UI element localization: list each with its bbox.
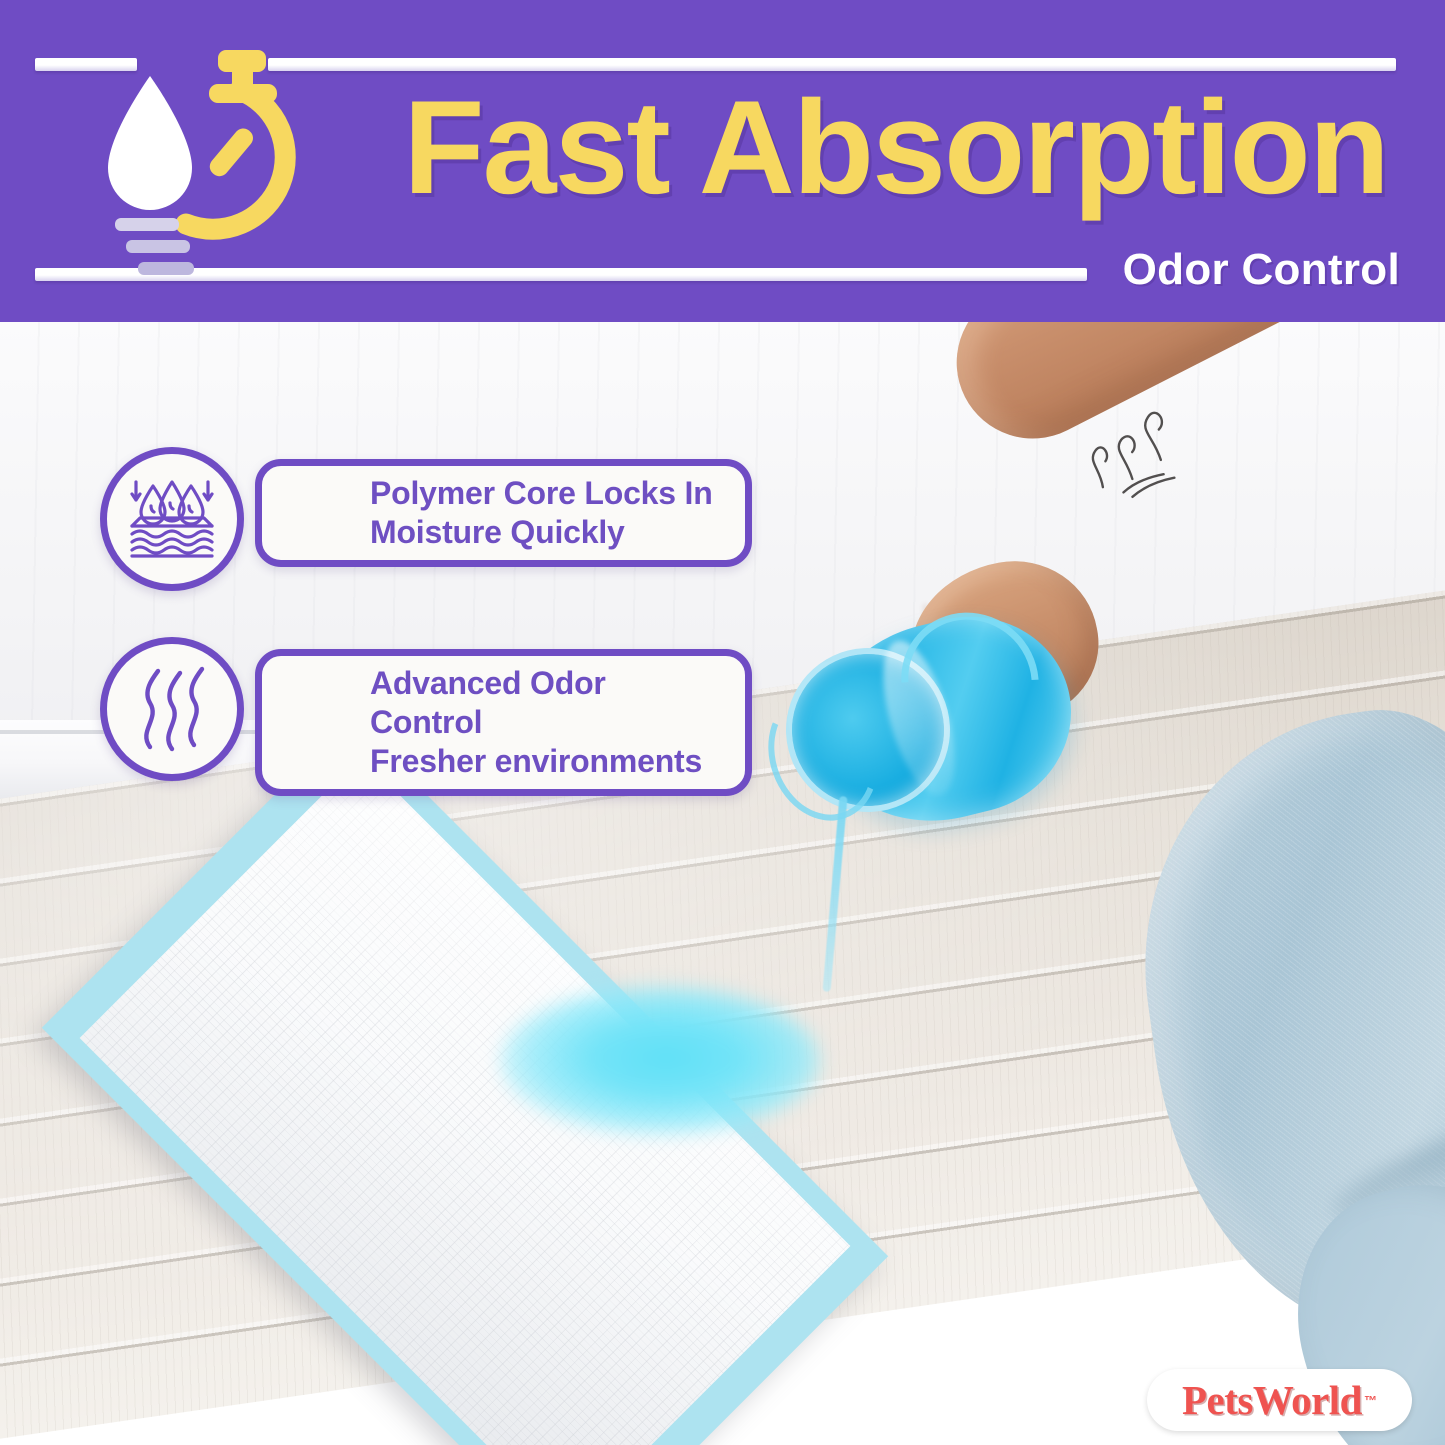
header-banner: Fast Absorption Odor Control	[0, 0, 1445, 322]
top-right-rule	[268, 58, 1396, 71]
feature-badge-polymer-core: Polymer Core Locks InMoisture Quickly	[100, 447, 660, 587]
feature-badge-pill: Polymer Core Locks InMoisture Quickly	[255, 459, 752, 567]
feature-badge-text: Polymer Core Locks InMoisture Quickly	[370, 474, 713, 552]
odor-waves-icon	[134, 665, 210, 753]
banner-title: Fast Absorption	[368, 82, 1388, 215]
feature-badge-pill: Advanced Odor ControlFresher environment…	[255, 649, 752, 796]
product-marketing-image: Fast Absorption Odor Control	[0, 0, 1445, 1445]
feature-badge-icon-circle	[100, 447, 244, 591]
droplet-stopwatch-icon	[88, 38, 328, 278]
feature-badge-icon-circle	[100, 637, 244, 781]
feature-badge-odor-control: Advanced Odor ControlFresher environment…	[100, 637, 660, 777]
feature-badge-text: Advanced Odor ControlFresher environment…	[370, 664, 725, 781]
brand-name: PetsWorld	[1182, 1376, 1362, 1424]
brand-logo: PetsWorld™	[1147, 1369, 1412, 1431]
absorbed-liquid-stain	[500, 986, 820, 1136]
banner-subtitle: Odor Control	[1123, 245, 1400, 295]
glass-pitcher	[770, 612, 1100, 842]
trademark-symbol: ™	[1364, 1393, 1377, 1408]
absorption-droplets-icon	[126, 476, 218, 562]
